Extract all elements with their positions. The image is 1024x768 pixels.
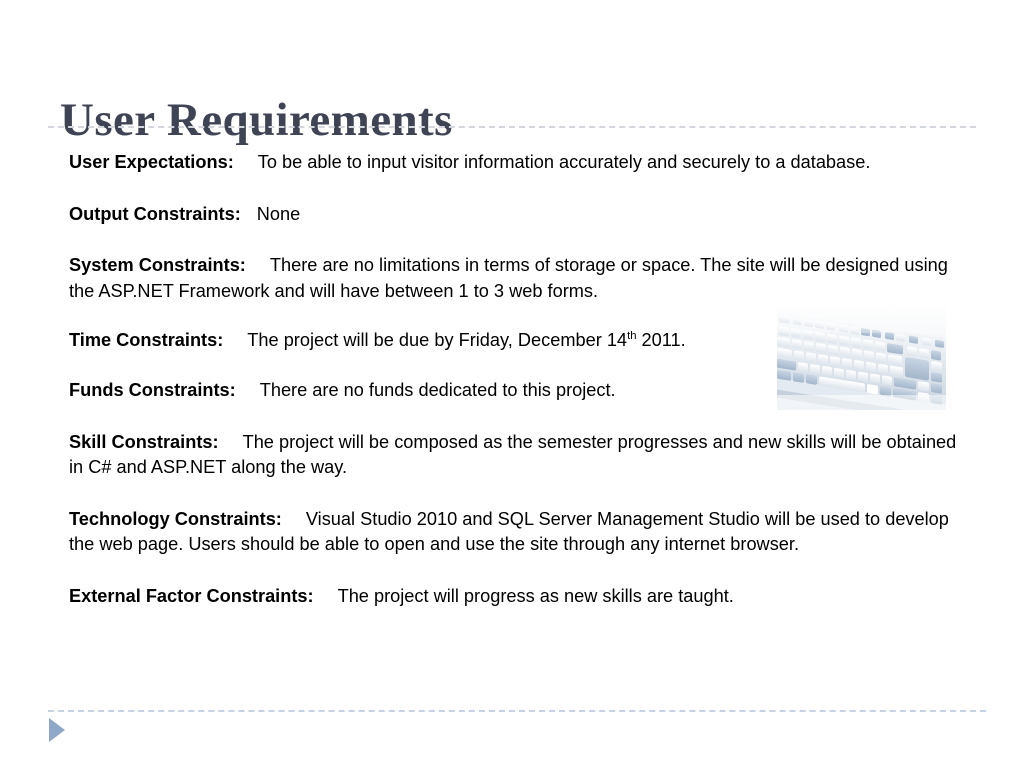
requirement-skill-constraints: Skill Constraints:The project will be co… bbox=[69, 430, 959, 481]
requirement-text: The project will be due by Friday, Decem… bbox=[247, 330, 627, 350]
requirement-technology-constraints: Technology Constraints:Visual Studio 201… bbox=[69, 507, 963, 558]
requirement-label: System Constraints: bbox=[69, 255, 246, 275]
requirement-text: There are no funds dedicated to this pro… bbox=[260, 380, 616, 400]
keyboard-photo bbox=[777, 303, 946, 410]
requirement-user-expectations: User Expectations:To be able to input vi… bbox=[69, 150, 975, 176]
requirement-text: None bbox=[257, 204, 300, 224]
requirement-label: External Factor Constraints: bbox=[69, 586, 314, 606]
requirement-label: Skill Constraints: bbox=[69, 432, 219, 452]
page-title: User Requirements bbox=[60, 93, 453, 147]
requirement-text-tail: 2011. bbox=[636, 330, 685, 350]
requirement-label: Funds Constraints: bbox=[69, 380, 236, 400]
footer-divider bbox=[48, 710, 986, 712]
title-divider bbox=[48, 126, 976, 128]
requirement-label: User Expectations: bbox=[69, 152, 234, 172]
requirement-external-factor-constraints: External Factor Constraints:The project … bbox=[69, 584, 975, 610]
requirement-text: The project will progress as new skills … bbox=[338, 586, 734, 606]
next-slide-arrow-icon[interactable] bbox=[47, 717, 67, 743]
requirement-label: Technology Constraints: bbox=[69, 509, 282, 529]
requirement-label: Output Constraints: bbox=[69, 204, 241, 224]
requirement-label: Time Constraints: bbox=[69, 330, 223, 350]
slide-canvas: User Requirements User Expectations:To b… bbox=[0, 0, 1024, 768]
requirement-system-constraints: System Constraints:There are no limitati… bbox=[69, 253, 975, 304]
requirement-text: To be able to input visitor information … bbox=[258, 152, 871, 172]
requirement-output-constraints: Output Constraints:None bbox=[69, 202, 975, 228]
